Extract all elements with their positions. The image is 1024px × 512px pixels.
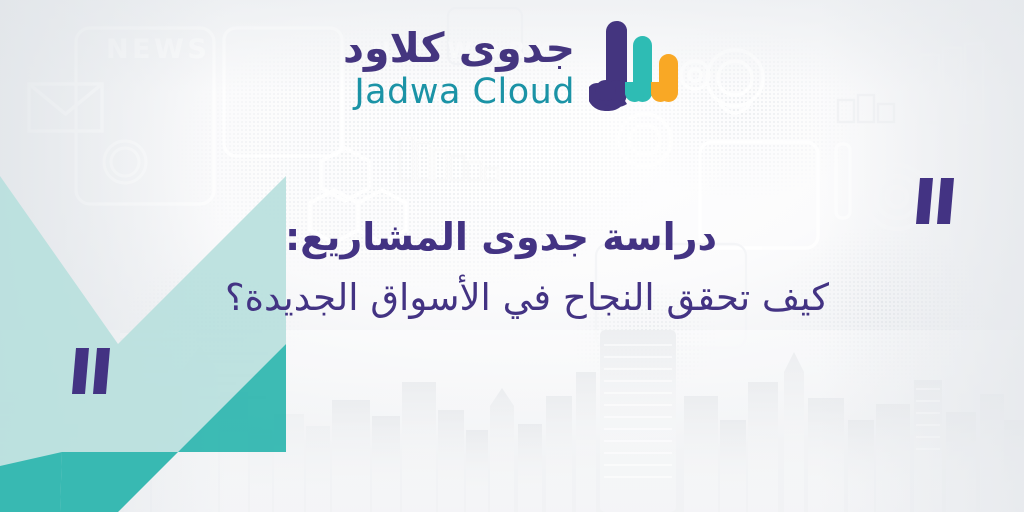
- quote-mark-top-right-icon: [916, 178, 960, 224]
- logo-wordmark: جدوى كلاود Jadwa Cloud: [343, 18, 575, 110]
- headline: دراسة جدوى المشاريع: كيف تحقق النجاح في …: [0, 214, 1024, 322]
- headline-line-2: كيف تحقق النجاح في الأسواق الجديدة؟: [0, 274, 1024, 321]
- logo-arabic-name: جدوى كلاود: [343, 28, 575, 69]
- promo-banner: NETWORK NEWS: [0, 0, 1024, 512]
- headline-line-1: دراسة جدوى المشاريع:: [0, 214, 1024, 260]
- quote-mark-bottom-left-icon: [72, 348, 116, 394]
- logo-mark-icon: [589, 18, 681, 114]
- logo[interactable]: جدوى كلاود Jadwa Cloud: [0, 18, 1024, 114]
- logo-english-name: Jadwa Cloud: [354, 75, 575, 110]
